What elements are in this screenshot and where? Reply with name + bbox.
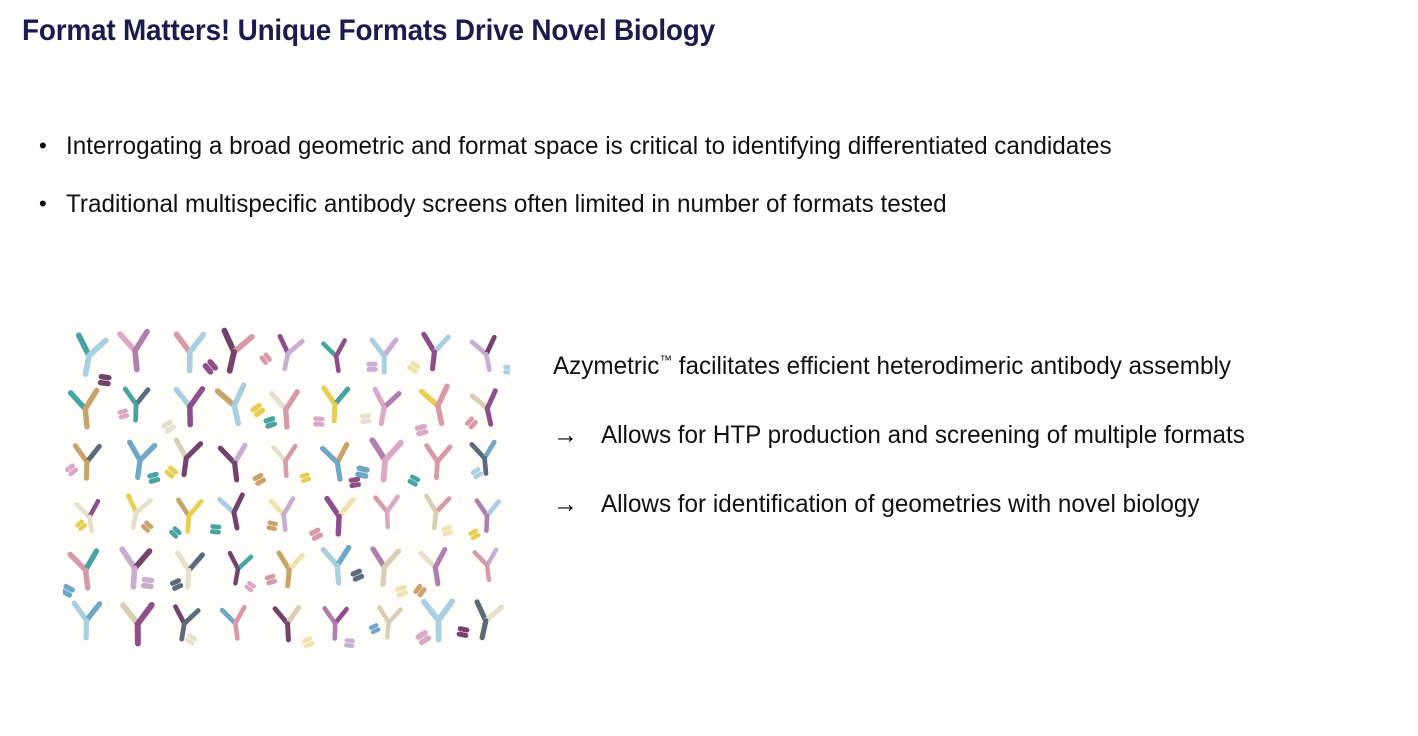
top-bullet-list: • Interrogating a broad geometric and fo… bbox=[36, 128, 1306, 244]
list-item: → Allows for HTP production and screenin… bbox=[553, 417, 1398, 453]
arrow-right-icon: → bbox=[553, 417, 601, 453]
antibody-grid-svg bbox=[63, 327, 510, 648]
antibody-format-grid-figure bbox=[63, 327, 510, 648]
product-name: Azymetric bbox=[553, 352, 659, 380]
list-item: → Allows for identification of geometrie… bbox=[553, 486, 1398, 522]
figure-caption-column: Azymetric™ facilitates efficient heterod… bbox=[553, 348, 1398, 522]
lower-content-section: Azymetric™ facilitates efficient heterod… bbox=[0, 327, 1418, 657]
page-title: Format Matters! Unique Formats Drive Nov… bbox=[22, 14, 715, 48]
bullet-dot-icon: • bbox=[36, 186, 66, 222]
bullet-text: Traditional multispecific antibody scree… bbox=[66, 186, 1269, 222]
caption-lead-remainder: facilitates efficient heterodimeric anti… bbox=[672, 352, 1231, 380]
caption-lead-text: Azymetric™ facilitates efficient heterod… bbox=[553, 348, 1271, 384]
trademark-symbol: ™ bbox=[659, 353, 672, 368]
list-item: • Interrogating a broad geometric and fo… bbox=[36, 128, 1306, 164]
arrow-right-icon: → bbox=[553, 486, 601, 522]
arrow-bullet-text: Allows for HTP production and screening … bbox=[601, 417, 1374, 453]
bullet-dot-icon: • bbox=[36, 128, 66, 164]
arrow-bullet-text: Allows for identification of geometries … bbox=[601, 486, 1374, 522]
list-item: • Traditional multispecific antibody scr… bbox=[36, 186, 1306, 222]
bullet-text: Interrogating a broad geometric and form… bbox=[66, 128, 1269, 164]
